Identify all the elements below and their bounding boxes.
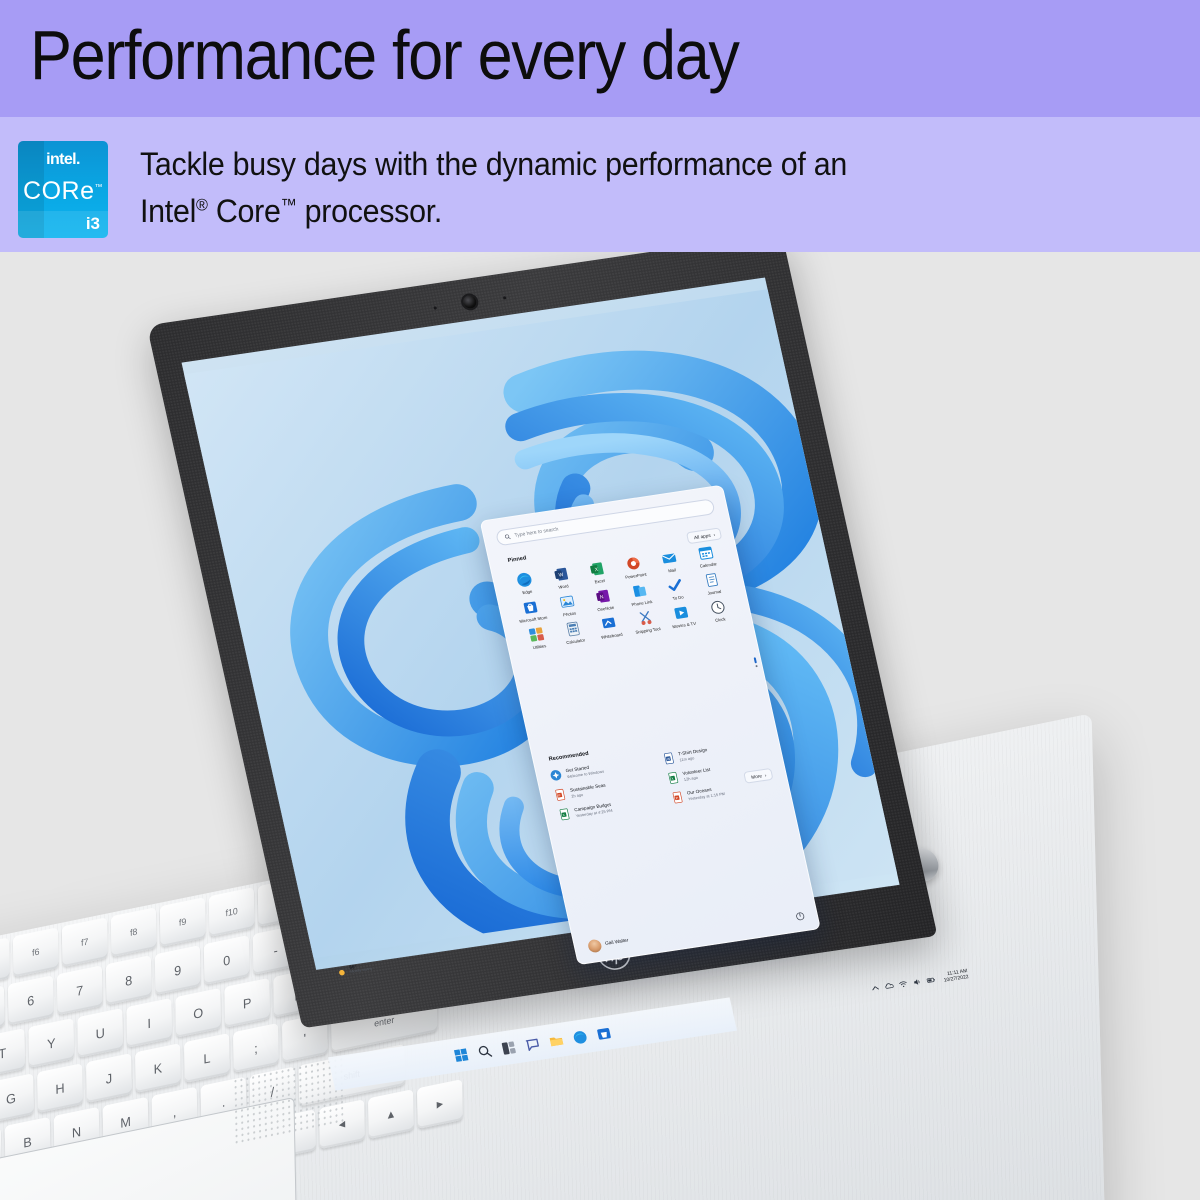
avatar bbox=[587, 939, 603, 954]
pinned-app-powerpoint[interactable]: PowerPoint bbox=[613, 553, 654, 581]
pinned-app-onenote[interactable]: N OneNote bbox=[583, 586, 624, 614]
pinned-app-label: Edge bbox=[522, 589, 533, 595]
pinned-app-label: Word bbox=[558, 583, 569, 589]
pinned-apps-grid: Edge W Word X Excel PowerPoint bbox=[505, 542, 739, 652]
pinned-app-label: Mail bbox=[668, 567, 677, 573]
pinned-app-label: Clock bbox=[715, 616, 726, 622]
recommended-list: Get Started Welcome to Windows W T-Shirt… bbox=[548, 737, 777, 821]
pinned-app-label: Microsoft Store bbox=[519, 615, 548, 624]
key-g[interactable]: G bbox=[0, 1073, 34, 1123]
subtitle-core-word: Core bbox=[208, 193, 281, 229]
pinned-app-label: Utilities bbox=[532, 643, 546, 650]
pinned-app-to-do[interactable]: To Do bbox=[656, 575, 697, 603]
pinned-app-label: OneNote bbox=[597, 605, 615, 612]
recommended-text: Our Oceans Yesterday at 1:15 PM bbox=[686, 785, 725, 801]
pinned-app-journal[interactable]: Journal bbox=[692, 570, 733, 598]
key-f10[interactable]: f10 bbox=[209, 887, 255, 937]
word-doc-icon: W bbox=[661, 751, 677, 766]
key-f6[interactable]: f6 bbox=[13, 927, 59, 977]
calendar-icon bbox=[696, 544, 715, 562]
key-arrow-updown[interactable]: ▴ bbox=[368, 1089, 414, 1139]
page-title: Performance for every day bbox=[30, 14, 739, 96]
recommended-text: Campaign Budget Yesterday at 4:25 PM bbox=[574, 802, 613, 818]
search-icon[interactable] bbox=[476, 1043, 494, 1060]
wifi-icon[interactable] bbox=[898, 979, 909, 989]
mail-icon bbox=[660, 549, 679, 567]
onenote-icon: N bbox=[593, 587, 612, 605]
power-icon[interactable] bbox=[795, 911, 806, 921]
page-dot bbox=[755, 665, 757, 667]
key-f5[interactable]: f5 bbox=[0, 937, 10, 987]
key-9[interactable]: 9 bbox=[155, 945, 201, 995]
key-8[interactable]: 8 bbox=[106, 955, 152, 1005]
file-explorer-icon[interactable] bbox=[547, 1032, 565, 1049]
pinned-app-phone-link[interactable]: Phone Link bbox=[619, 580, 660, 608]
key-f7[interactable]: f7 bbox=[62, 917, 108, 967]
registered-mark: ® bbox=[196, 195, 208, 214]
hp-laptop: esc f1 f2 f3 f4 f5 f6 f7 f8 f9 f10 f11 f… bbox=[0, 252, 1200, 1200]
key-0[interactable]: 0 bbox=[204, 935, 250, 985]
product-photo-stage: esc f1 f2 f3 f4 f5 f6 f7 f8 f9 f10 f11 f… bbox=[0, 252, 1200, 1200]
trademark-mark: ™ bbox=[281, 195, 297, 214]
key-i[interactable]: I bbox=[126, 998, 172, 1048]
pinned-app-edge[interactable]: Edge bbox=[505, 569, 546, 597]
subtitle-line-1: Tackle busy days with the dynamic perfor… bbox=[140, 146, 847, 182]
calculator-icon bbox=[563, 620, 582, 638]
pinned-app-whiteboard[interactable]: Whiteboard bbox=[589, 613, 630, 641]
core-tm: ™ bbox=[94, 183, 103, 192]
edge-icon[interactable] bbox=[571, 1028, 589, 1045]
pinned-app-calculator[interactable]: Calculator bbox=[553, 619, 594, 647]
recommended-section-label: Recommended bbox=[548, 751, 589, 763]
edge-icon bbox=[515, 571, 534, 589]
key-l[interactable]: L bbox=[184, 1033, 230, 1083]
store-icon[interactable] bbox=[595, 1025, 613, 1042]
pinned-app-mail[interactable]: Mail bbox=[650, 548, 691, 576]
pinned-page-indicator[interactable] bbox=[754, 657, 758, 667]
key-j[interactable]: J bbox=[86, 1053, 132, 1103]
pinned-app-label: Snipping Tool bbox=[635, 626, 661, 635]
pinned-app-excel[interactable]: X Excel bbox=[577, 558, 618, 586]
recommended-text: Volunteer List 12h ago bbox=[682, 767, 712, 781]
movies-tv-icon bbox=[672, 604, 691, 622]
powerpoint-doc-icon: P bbox=[669, 790, 685, 805]
excel-doc-icon: X bbox=[665, 771, 681, 786]
pinned-app-label: Calendar bbox=[699, 561, 717, 568]
pinned-app-label: Photos bbox=[563, 610, 577, 617]
pinned-app-word[interactable]: W Word bbox=[541, 564, 582, 592]
pinned-app-label: To Do bbox=[672, 594, 684, 601]
page-dot-active bbox=[754, 657, 757, 663]
battery-icon[interactable] bbox=[925, 975, 936, 985]
subtitle-text: Tackle busy days with the dynamic perfor… bbox=[140, 141, 1033, 235]
key-7[interactable]: 7 bbox=[57, 965, 103, 1015]
core-wordmark: CORe™ bbox=[18, 177, 108, 206]
key-k[interactable]: K bbox=[135, 1043, 181, 1093]
phone-link-icon bbox=[630, 582, 649, 600]
key-t[interactable]: T bbox=[0, 1028, 25, 1078]
pinned-app-calendar[interactable]: Calendar bbox=[686, 542, 727, 570]
chevron-up-icon[interactable] bbox=[870, 983, 881, 993]
todo-icon bbox=[666, 576, 685, 594]
key-6[interactable]: 6 bbox=[8, 975, 54, 1025]
recommended-text: Get Started Welcome to Windows bbox=[565, 763, 604, 779]
key-h[interactable]: H bbox=[37, 1063, 83, 1113]
user-name-label: Gail Walter bbox=[605, 939, 629, 947]
key-f9[interactable]: f9 bbox=[160, 897, 206, 947]
subtitle-band: Tackle busy days with the dynamic perfor… bbox=[0, 117, 1200, 252]
pinned-app-clock[interactable]: Clock bbox=[698, 597, 739, 625]
pinned-app-label: Whiteboard bbox=[601, 632, 623, 640]
get-started-icon bbox=[548, 768, 564, 783]
photos-icon bbox=[557, 593, 576, 611]
volume-icon[interactable] bbox=[911, 977, 922, 987]
excel-icon: X bbox=[587, 560, 606, 578]
widgets-icon[interactable] bbox=[500, 1039, 518, 1056]
pinned-app-snipping-tool[interactable]: Snipping Tool bbox=[625, 608, 666, 636]
pinned-app-label: Phone Link bbox=[631, 599, 653, 607]
key-semicolon[interactable]: ; bbox=[233, 1023, 279, 1073]
product-hero-page: Performance for every day Tackle busy da… bbox=[0, 0, 1200, 1200]
key-5[interactable]: 5 bbox=[0, 985, 5, 1035]
clock-icon bbox=[708, 598, 727, 616]
pinned-app-label: Movies & TV bbox=[672, 621, 697, 629]
pinned-section-label: Pinned bbox=[507, 555, 527, 564]
all-apps-button[interactable]: All apps › bbox=[686, 527, 723, 544]
chevron-right-icon: › bbox=[713, 532, 716, 537]
utilities-icon bbox=[527, 625, 546, 643]
headline-band: Performance for every day bbox=[0, 0, 1200, 117]
recommended-text: T-Shirt Design 11m ago bbox=[678, 747, 709, 762]
whiteboard-icon bbox=[599, 615, 618, 633]
pinned-app-movies-tv[interactable]: Movies & TV bbox=[662, 602, 703, 630]
key-o[interactable]: O bbox=[175, 988, 221, 1038]
journal-icon bbox=[702, 571, 721, 589]
intel-core-i3-badge: intel. CORe™ i3 bbox=[18, 141, 108, 238]
pinned-app-label: Calculator bbox=[566, 637, 586, 645]
intel-sku-label: i3 bbox=[86, 214, 100, 234]
weather-sun-icon bbox=[335, 965, 348, 977]
powerpoint-icon bbox=[624, 555, 643, 573]
chat-icon[interactable] bbox=[523, 1036, 541, 1053]
recommended-text: Sustainable Seas 2h ago bbox=[570, 783, 608, 799]
weather-text: 66° Mostly sunny bbox=[349, 962, 373, 974]
key-p[interactable]: P bbox=[224, 978, 270, 1028]
store-icon bbox=[521, 598, 540, 616]
start-menu-user[interactable]: Gail Walter bbox=[587, 935, 630, 954]
key-y[interactable]: Y bbox=[28, 1018, 74, 1068]
pinned-app-label: Excel bbox=[594, 578, 605, 584]
onedrive-icon[interactable] bbox=[884, 981, 895, 991]
snipping-tool-icon bbox=[636, 609, 655, 627]
key-u[interactable]: U bbox=[77, 1008, 123, 1058]
pinned-app-label: PowerPoint bbox=[625, 572, 647, 580]
subtitle-tail: processor. bbox=[296, 193, 442, 229]
intel-wordmark: intel. bbox=[18, 151, 108, 169]
key-f8[interactable]: f8 bbox=[111, 907, 157, 957]
start-search-placeholder: Type here to search bbox=[514, 526, 559, 538]
pinned-app-photos[interactable]: Photos bbox=[547, 591, 588, 619]
powerpoint-doc-icon: P bbox=[552, 788, 568, 803]
windows-start-icon[interactable] bbox=[452, 1046, 470, 1063]
word-icon: W bbox=[551, 565, 570, 583]
pinned-app-microsoft-store[interactable]: Microsoft Store bbox=[511, 597, 552, 625]
key-arrow-right[interactable]: ▸ bbox=[417, 1079, 463, 1129]
pinned-app-utilities[interactable]: Utilities bbox=[517, 624, 558, 652]
excel-doc-icon: X bbox=[557, 807, 573, 822]
subtitle-intel-word: Intel bbox=[140, 193, 196, 229]
search-icon bbox=[504, 534, 511, 541]
all-apps-label: All apps bbox=[693, 532, 711, 539]
pinned-app-label: Journal bbox=[707, 589, 722, 596]
